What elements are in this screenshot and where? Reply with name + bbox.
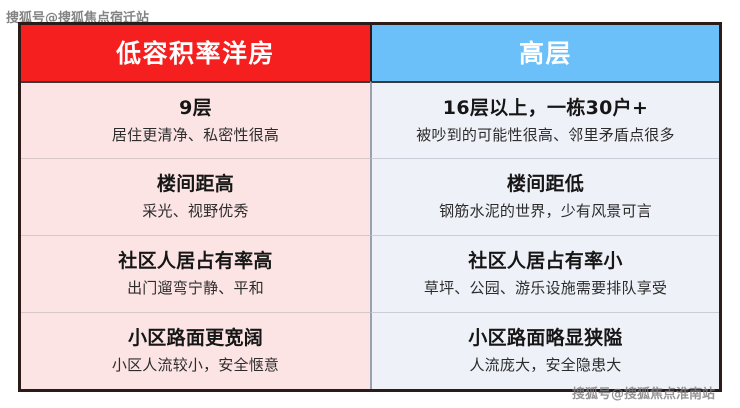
watermark-bottom: 搜狐号@搜狐焦点淮南站 bbox=[572, 383, 715, 402]
row-1-left-title: 9层 bbox=[179, 97, 212, 121]
header-cell-low-density: 低容积率洋房 bbox=[21, 25, 370, 81]
header-label-high-rise: 高层 bbox=[519, 41, 572, 66]
table-row: 楼间距高 采光、视野优秀 楼间距低 钢筋水泥的世界，少有风景可言 bbox=[21, 158, 719, 235]
row-2-right-title: 楼间距低 bbox=[507, 173, 584, 197]
row-1-right-cell: 16层以上，一栋30户+ 被吵到的可能性很高、邻里矛盾点很多 bbox=[370, 81, 719, 158]
row-1-right-sub: 被吵到的可能性很高、邻里矛盾点很多 bbox=[416, 126, 674, 145]
row-1-left-cell: 9层 居住更清净、私密性很高 bbox=[21, 81, 370, 158]
row-3-left-cell: 社区人居占有率高 出门遛弯宁静、平和 bbox=[21, 235, 370, 312]
table-row: 9层 居住更清净、私密性很高 16层以上，一栋30户+ 被吵到的可能性很高、邻里… bbox=[21, 81, 719, 158]
row-3-left-title: 社区人居占有率高 bbox=[118, 250, 272, 274]
row-1-left-sub: 居住更清净、私密性很高 bbox=[112, 126, 279, 145]
row-4-left-sub: 小区人流较小，安全惬意 bbox=[112, 356, 279, 375]
header-cell-high-rise: 高层 bbox=[370, 25, 719, 81]
table-row: 社区人居占有率高 出门遛弯宁静、平和 社区人居占有率小 草坪、公园、游乐设施需要… bbox=[21, 235, 719, 312]
row-4-right-sub: 人流庞大，安全隐患大 bbox=[469, 356, 621, 375]
row-2-right-sub: 钢筋水泥的世界，少有风景可言 bbox=[439, 202, 652, 221]
row-2-left-title: 楼间距高 bbox=[157, 173, 234, 197]
row-2-right-cell: 楼间距低 钢筋水泥的世界，少有风景可言 bbox=[370, 158, 719, 235]
row-4-left-cell: 小区路面更宽阔 小区人流较小，安全惬意 bbox=[21, 312, 370, 389]
row-3-right-title: 社区人居占有率小 bbox=[468, 250, 622, 274]
row-2-left-cell: 楼间距高 采光、视野优秀 bbox=[21, 158, 370, 235]
header-label-low-density: 低容积率洋房 bbox=[116, 41, 275, 66]
row-4-left-title: 小区路面更宽阔 bbox=[128, 327, 263, 351]
table-header-row: 低容积率洋房 高层 bbox=[21, 25, 719, 81]
row-3-right-cell: 社区人居占有率小 草坪、公园、游乐设施需要排队享受 bbox=[370, 235, 719, 312]
comparison-table: 低容积率洋房 高层 9层 居住更清净、私密性很高 16层以上，一栋30户+ 被吵… bbox=[18, 22, 722, 392]
row-3-left-sub: 出门遛弯宁静、平和 bbox=[127, 279, 264, 298]
row-4-right-cell: 小区路面略显狭隘 人流庞大，安全隐患大 bbox=[370, 312, 719, 389]
row-3-right-sub: 草坪、公园、游乐设施需要排队享受 bbox=[424, 279, 667, 298]
row-4-right-title: 小区路面略显狭隘 bbox=[468, 327, 622, 351]
row-2-left-sub: 采光、视野优秀 bbox=[142, 202, 248, 221]
comparison-infographic: 搜狐号@搜狐焦点宿迁站 低容积率洋房 高层 9层 居住更清净、私密性很高 16层… bbox=[0, 0, 740, 408]
row-1-right-title: 16层以上，一栋30户+ bbox=[443, 97, 648, 121]
table-row: 小区路面更宽阔 小区人流较小，安全惬意 小区路面略显狭隘 人流庞大，安全隐患大 bbox=[21, 312, 719, 389]
